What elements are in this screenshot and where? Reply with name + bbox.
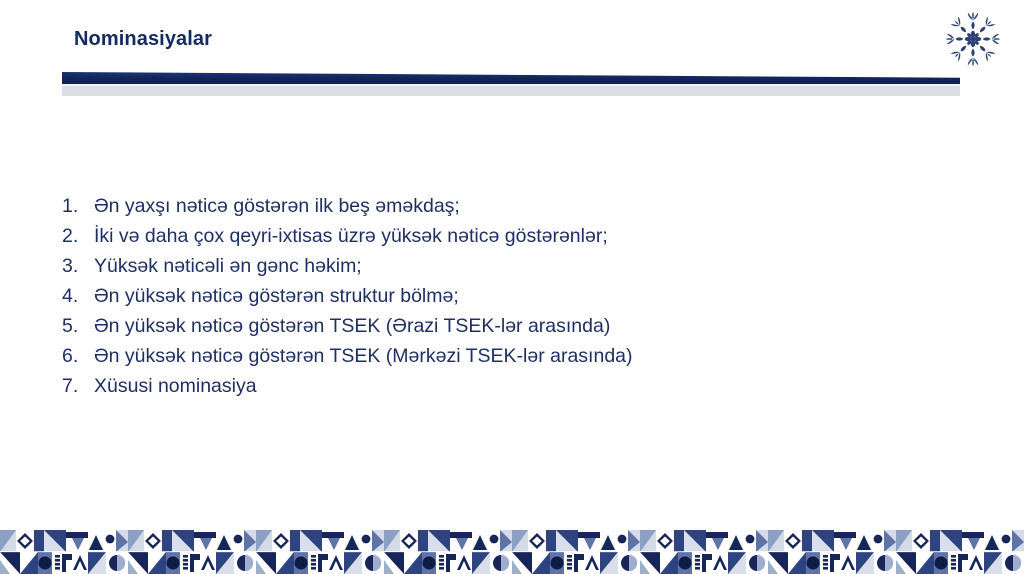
list-item-label: Ən yüksək nəticə göstərən TSEK (Mərkəzi … — [94, 341, 633, 371]
list-item-number: 6. — [62, 341, 94, 371]
list-item: 1. Ən yaxşı nəticə göstərən ilk beş əmək… — [62, 191, 942, 221]
list-item-label: Ən yüksək nəticə göstərən struktur bölmə… — [94, 281, 459, 311]
nomination-list: 1. Ən yaxşı nəticə göstərən ilk beş əmək… — [62, 191, 942, 401]
list-item-number: 1. — [62, 191, 94, 221]
list-item: 2. İki və daha çox qeyri-ixtisas üzrə yü… — [62, 221, 942, 251]
list-item-number: 3. — [62, 251, 94, 281]
list-item-label: İki və daha çox qeyri-ixtisas üzrə yüksə… — [94, 221, 608, 251]
header-divider — [62, 72, 960, 96]
list-item: 3. Yüksək nəticəli ən gənc həkim; — [62, 251, 942, 281]
list-item: 7. Xüsusi nominasiya — [62, 371, 942, 401]
floral-rosette-icon — [941, 9, 1005, 69]
list-item-label: Yüksək nəticəli ən gənc həkim; — [94, 251, 362, 281]
list-item-label: Ən yaxşı nəticə göstərən ilk beş əməkdaş… — [94, 191, 460, 221]
list-item-label: Xüsusi nominasiya — [94, 371, 257, 401]
list-item: 4. Ən yüksək nəticə göstərən struktur bö… — [62, 281, 942, 311]
list-item-number: 2. — [62, 221, 94, 251]
list-item: 5. Ən yüksək nəticə göstərən TSEK (Ərazi… — [62, 311, 942, 341]
header-divider-grey-band — [62, 84, 960, 96]
list-item-number: 4. — [62, 281, 94, 311]
list-item-number: 7. — [62, 371, 94, 401]
decorative-pattern-border — [0, 530, 1024, 574]
list-item-number: 5. — [62, 311, 94, 341]
page-title: Nominasiyalar — [74, 28, 212, 51]
list-item-label: Ən yüksək nəticə göstərən TSEK (Ərazi TS… — [94, 311, 610, 341]
slide-canvas: Nominasiyalar — [0, 0, 1024, 574]
list-item: 6. Ən yüksək nəticə göstərən TSEK (Mərkə… — [62, 341, 942, 371]
